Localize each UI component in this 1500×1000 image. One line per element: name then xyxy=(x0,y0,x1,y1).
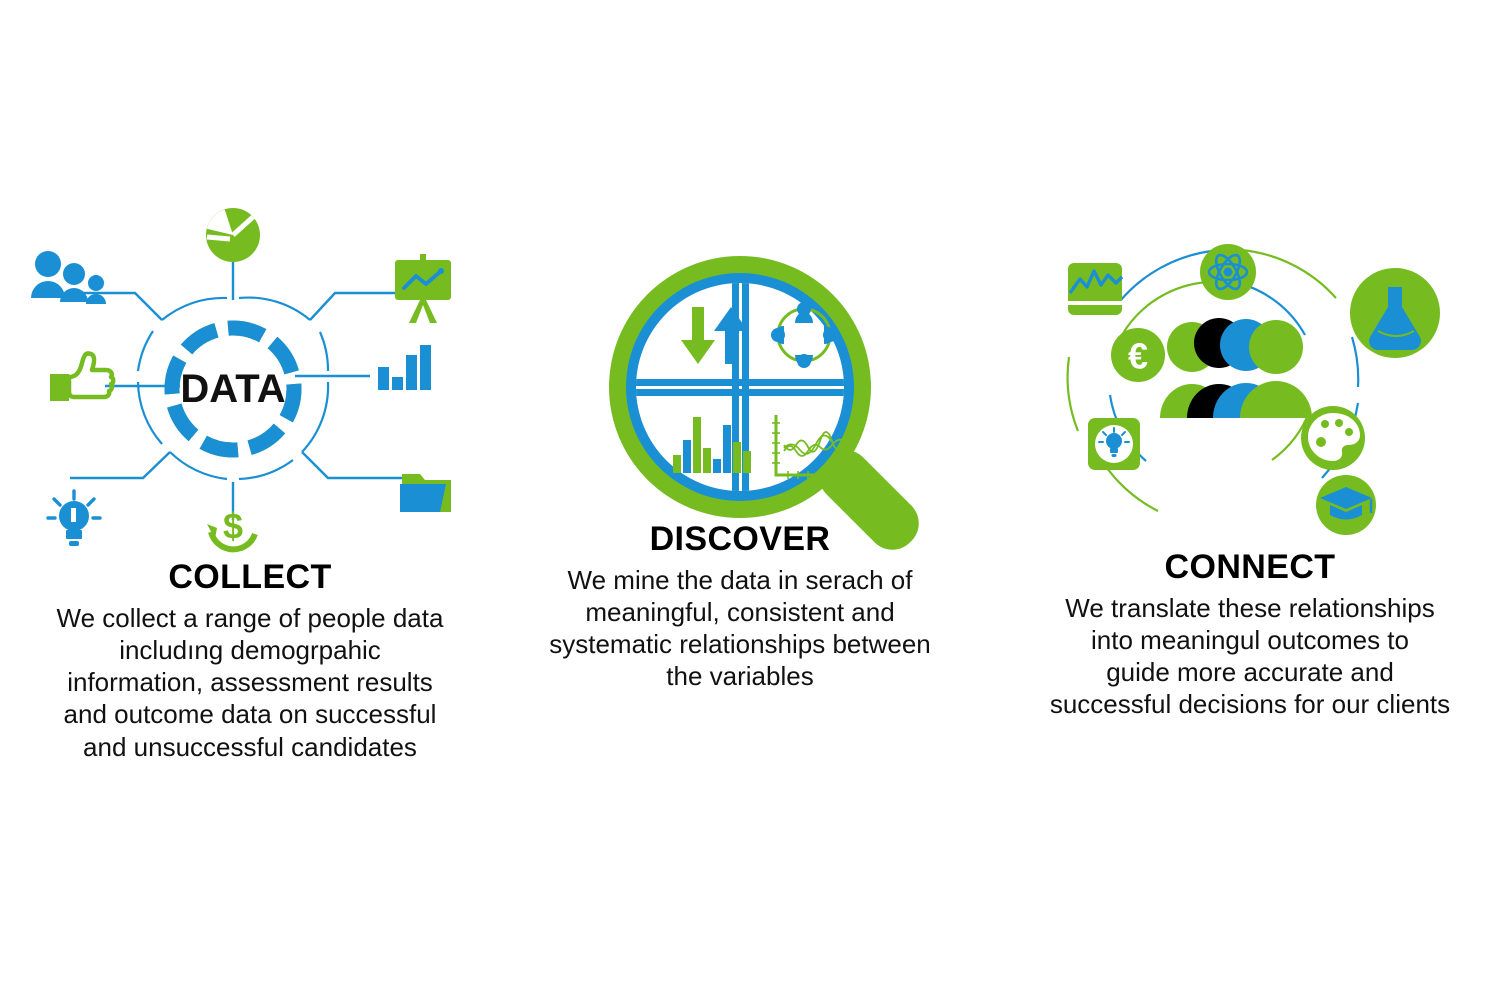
lightbulb-icon xyxy=(48,491,100,546)
step-description-discover: We mine the data in serach of meaningful… xyxy=(490,564,990,693)
people-group-icon xyxy=(31,251,106,304)
people-group-icon xyxy=(1160,318,1312,418)
connect-graphic: € xyxy=(1060,235,1490,545)
step-panel-discover: DISCOVER We mine the data in serach of m… xyxy=(490,0,990,1000)
dollar-recycle-icon: $ xyxy=(207,506,255,550)
thumbs-up-icon xyxy=(50,353,113,401)
step-description-connect: We translate these relationships into me… xyxy=(1000,592,1500,721)
presentation-chart-icon xyxy=(395,254,451,323)
connect-caption: CONNECT We translate these relationships… xyxy=(1000,550,1500,721)
discover-diagram xyxy=(600,245,980,565)
flask-icon xyxy=(1350,268,1440,358)
data-center-label: DATA xyxy=(180,367,285,411)
step-panel-connect: € xyxy=(1000,0,1500,1000)
euro-icon: € xyxy=(1111,328,1165,382)
folder-icon xyxy=(400,474,451,512)
connect-diagram: € xyxy=(1060,235,1490,545)
bar-chart-icon xyxy=(378,345,431,390)
discover-caption: DISCOVER We mine the data in serach of m… xyxy=(490,522,990,693)
collect-graphic: DATA xyxy=(10,190,480,560)
svg-text:€: € xyxy=(1128,336,1148,377)
step-title-collect: COLLECT xyxy=(0,560,500,596)
line-chart-square-icon xyxy=(1068,263,1122,315)
collect-caption: COLLECT We collect a range of people dat… xyxy=(0,560,500,763)
step-description-collect: We collect a range of people data includ… xyxy=(0,602,500,763)
discover-graphic xyxy=(600,245,980,565)
pie-chart-icon xyxy=(203,208,260,262)
spoke-folder xyxy=(302,452,414,478)
svg-text:$: $ xyxy=(223,506,243,547)
step-panel-collect: DATA xyxy=(0,0,500,1000)
graduation-cap-icon xyxy=(1316,475,1376,535)
step-title-discover: DISCOVER xyxy=(490,522,990,558)
step-title-connect: CONNECT xyxy=(1000,550,1500,586)
lightbulb-square-icon xyxy=(1088,418,1140,470)
atom-icon xyxy=(1200,244,1256,300)
spoke-bulb xyxy=(70,452,170,478)
infographic-canvas: DATA xyxy=(0,0,1500,1000)
collect-diagram: DATA xyxy=(10,190,480,560)
